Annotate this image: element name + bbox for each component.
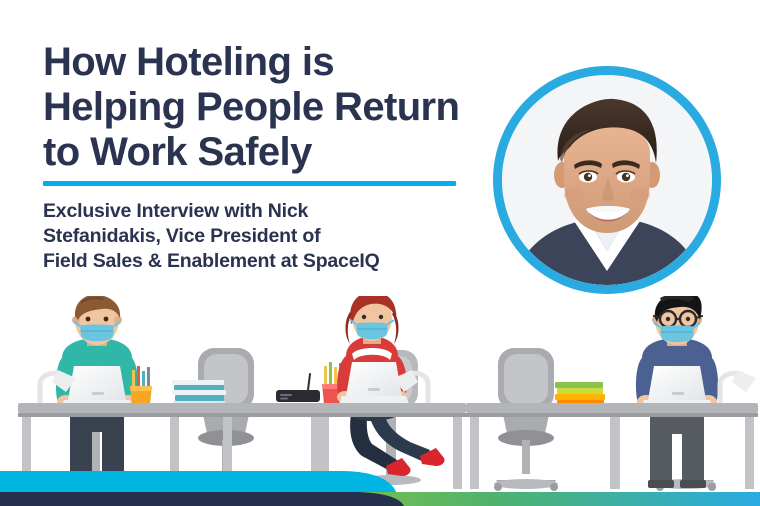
cyan-band	[0, 471, 396, 492]
portrait-photo	[502, 75, 712, 285]
book-stack-teal	[172, 380, 226, 406]
banner-canvas: How Hoteling is Helping People Return to…	[0, 0, 760, 506]
navy-band	[0, 492, 404, 506]
subtitle: Exclusive Interview with Nick Stefanidak…	[43, 199, 483, 274]
footer-bars	[0, 466, 760, 506]
avatar	[502, 75, 712, 285]
page-title: How Hoteling is Helping People Return to…	[43, 40, 503, 174]
title-divider	[43, 181, 456, 186]
